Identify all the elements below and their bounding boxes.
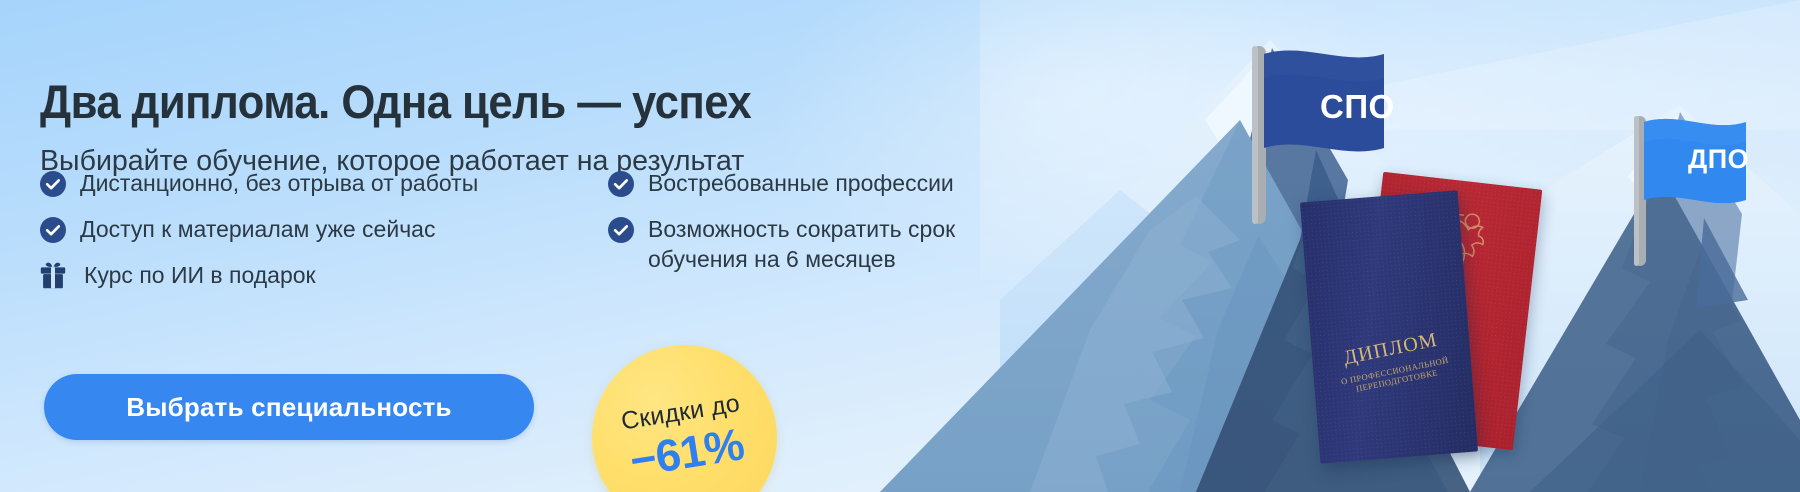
list-item: Курс по ИИ в подарок bbox=[40, 260, 560, 290]
list-item-label: Востребованные профессии bbox=[648, 168, 954, 198]
list-item-label: Курс по ИИ в подарок bbox=[80, 260, 316, 290]
discount-badge-inner: Скидки до −61% bbox=[579, 332, 791, 492]
list-item: Возможность сократить срок обучения на 6… bbox=[608, 214, 1008, 274]
choose-specialty-button-label: Выбрать специальность bbox=[126, 392, 452, 423]
list-item: Востребованные профессии bbox=[608, 168, 1008, 198]
flag-spo-label: СПО bbox=[1320, 88, 1395, 126]
discount-badge: Скидки до −61% bbox=[592, 345, 777, 492]
flag-dpo: ДПО bbox=[1618, 108, 1800, 278]
page-title: Два диплома. Одна цель — успех bbox=[40, 73, 751, 131]
check-circle-icon bbox=[40, 217, 66, 243]
list-item-label: Доступ к материалам уже сейчас bbox=[80, 214, 435, 244]
list-item-label: Дистанционно, без отрыва от работы bbox=[80, 168, 478, 198]
choose-specialty-button[interactable]: Выбрать специальность bbox=[44, 374, 534, 440]
flag-dpo-label: ДПО bbox=[1688, 144, 1749, 175]
benefits-column-right: Востребованные профессии Возможность сок… bbox=[608, 168, 1008, 290]
gift-icon bbox=[40, 261, 66, 287]
check-circle-icon bbox=[608, 217, 634, 243]
list-item-label: Возможность сократить срок обучения на 6… bbox=[648, 214, 1008, 274]
benefits-column-left: Дистанционно, без отрыва от работы Досту… bbox=[40, 168, 560, 306]
check-circle-icon bbox=[608, 171, 634, 197]
list-item: Дистанционно, без отрыва от работы bbox=[40, 168, 560, 198]
promo-banner: СПО ДПО ИПЛОМ ДИПЛОМ О ПРОФЕССИ bbox=[0, 0, 1800, 492]
list-item: Доступ к материалам уже сейчас bbox=[40, 214, 560, 244]
check-circle-icon bbox=[40, 171, 66, 197]
diploma-navy: ДИПЛОМ О ПРОФЕССИОНАЛЬНОЙ ПЕРЕПОДГОТОВКЕ bbox=[1300, 190, 1478, 464]
banner-content: Два диплома. Одна цель — успех Выбирайте… bbox=[0, 0, 1000, 492]
